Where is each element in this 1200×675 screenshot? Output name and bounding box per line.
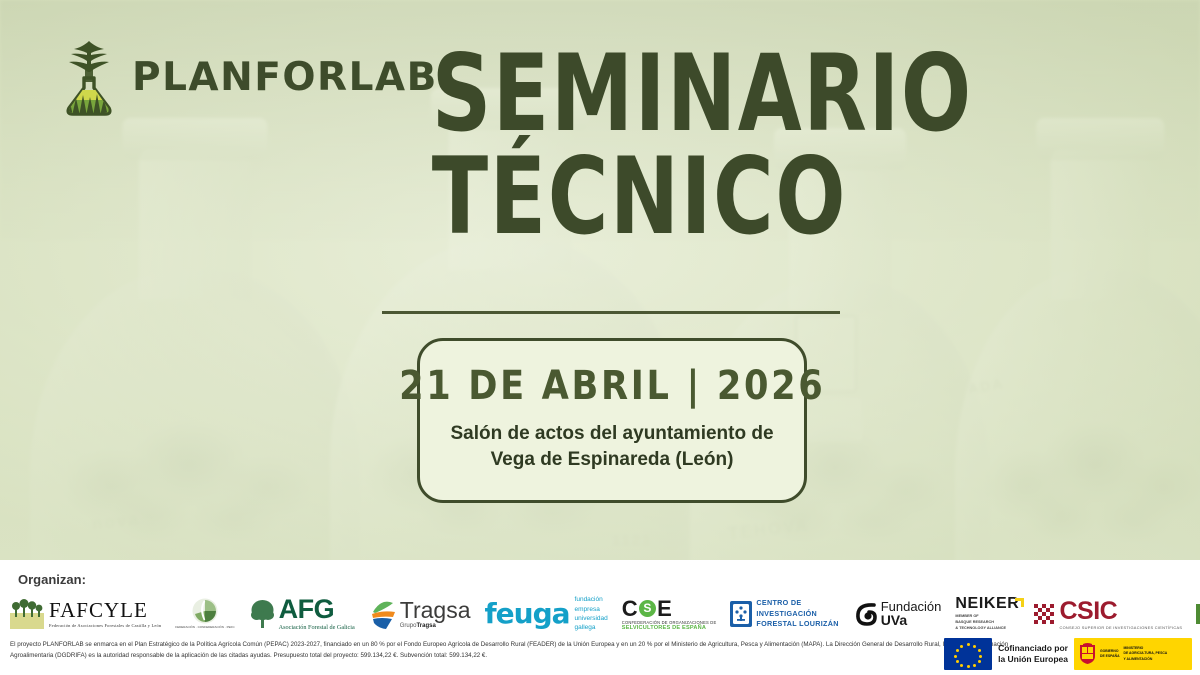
eu-flag-icon	[944, 638, 992, 670]
oak-tree-icon	[249, 599, 276, 629]
tragsa-sub-light: Grupo	[400, 623, 417, 629]
cose-green-circle-icon: S	[639, 600, 656, 617]
uva-name-1: Fundación	[881, 600, 942, 614]
event-date: 21 DE ABRIL | 2026	[399, 363, 825, 409]
title-divider	[382, 311, 840, 314]
eu-text-line-2: la Unión Europea	[998, 654, 1068, 665]
funding-fineprint: El proyecto PLANFORLAB se enmarca en el …	[10, 640, 1010, 661]
eu-text-line-1: Cofinanciado por	[998, 643, 1068, 654]
lourizan-line-1: CENTRO DE	[756, 598, 838, 608]
fafcyle-name: FAFCYLE	[49, 600, 161, 621]
tragsa-landscape-icon	[369, 598, 397, 630]
title-line-2: TÉCNICO	[432, 151, 799, 242]
logo-csic: CSIC CONSEJO SUPERIOR DE INVESTIGACIONES…	[1033, 592, 1182, 636]
venue-line-1: Salón de actos del ayuntamiento de	[450, 421, 773, 447]
poster-title: SEMINARIO TÉCNICO	[380, 48, 850, 242]
feuga-sub-2: empresa	[575, 605, 608, 614]
csic-name: CSIC	[1059, 599, 1182, 624]
uva-swirl-icon	[853, 601, 877, 627]
lourizan-line-2: INVESTIGACIÓN	[756, 609, 838, 619]
tragsa-name: Tragsa	[400, 599, 471, 622]
logo-afg: AFG Asociación Forestal de Galicia	[249, 592, 355, 636]
feuga-sub-3: universidad	[575, 614, 608, 623]
spain-line-2: DE ESPAÑA	[1100, 654, 1120, 659]
feuga-name: feuga	[484, 600, 569, 628]
footer-section: Organizan: FAFCYLE Federación de Asociac…	[0, 560, 1200, 675]
neiker-name: NEIKER	[955, 596, 1019, 612]
spain-coat-of-arms-icon	[1079, 643, 1096, 665]
feuga-sub-1: fundación	[575, 595, 608, 604]
trees-field-icon	[10, 599, 44, 629]
logo-feuga: feuga fundación empresa universidad gall…	[484, 592, 607, 636]
organizers-label: Organizan:	[18, 572, 86, 587]
logo-cose: CSE CONFEDERACIÓN DE ORGANIZACIONES DE S…	[622, 592, 717, 636]
logo-pefc-region: FEDERACIÓN · CONFEDERACIÓN · PEFC	[175, 592, 234, 636]
logo-fafcyle: FAFCYLE Federación de Asociaciones Fores…	[10, 592, 161, 636]
logo-inia: INIA Instituto Nacional de Investigación…	[1196, 592, 1200, 636]
inia-green-square-icon	[1196, 604, 1200, 624]
title-line-1: SEMINARIO	[432, 48, 799, 139]
spain-line-4: DE AGRICULTURA, PESCA	[1124, 651, 1168, 656]
hero-section: nova TEHOVA ADA 1121	[0, 0, 1200, 560]
event-date-card: 21 DE ABRIL | 2026 Salón de actos del ay…	[417, 338, 807, 503]
spain-ministry-badge: GOBIERNO DE ESPAÑA MINISTERIO DE AGRICUL…	[1074, 638, 1192, 670]
neiker-sub-3: & TECHNOLOGY ALLIANCE	[955, 626, 1006, 632]
green-circle-leaf-icon	[192, 598, 218, 624]
seminar-poster: nova TEHOVA ADA 1121	[0, 0, 1200, 675]
afg-name: AFG	[279, 597, 355, 623]
uva-name-2: UVa	[881, 613, 942, 628]
venue-line-2: Vega de Espinareda (León)	[450, 447, 773, 473]
logo-neiker: NEIKER MEMBER OF BASQUE RESEARCH & TECHN…	[955, 592, 1019, 636]
neiker-corner-icon	[1015, 598, 1024, 607]
xunta-galicia-shield-icon	[730, 601, 752, 627]
logo-lourizan: CENTRO DE INVESTIGACIÓN FORESTAL LOURIZÁ…	[730, 592, 838, 636]
tragsa-sub-bold: Tragsa	[416, 623, 435, 629]
organizer-logos: FAFCYLE Federación de Asociaciones Fores…	[10, 591, 1194, 637]
csic-subtitle: CONSEJO SUPERIOR DE INVESTIGACIONES CIEN…	[1059, 625, 1182, 630]
eu-funding-block: Cofinanciado por la Unión Europea GOBIER…	[944, 638, 1192, 670]
csic-grid-icon	[1033, 603, 1055, 625]
flask-with-forest-icon	[60, 38, 118, 116]
fafcyle-subtitle: Federación de Asociaciones Forestales de…	[49, 623, 161, 628]
cose-name: CSE	[622, 598, 673, 620]
lourizan-line-3: FORESTAL LOURIZÁN	[756, 619, 838, 629]
spain-line-5: Y ALIMENTACIÓN	[1124, 657, 1168, 662]
feuga-sub-4: gallega	[575, 623, 608, 632]
logo-fundacion-uva: Fundación UVa	[853, 592, 942, 636]
afg-subtitle: Asociación Forestal de Galicia	[279, 624, 355, 631]
logo-tragsa: Tragsa GrupoTragsa	[369, 592, 471, 636]
cose-subtitle-2: SELVICULTORES DE ESPAÑA	[622, 625, 706, 631]
